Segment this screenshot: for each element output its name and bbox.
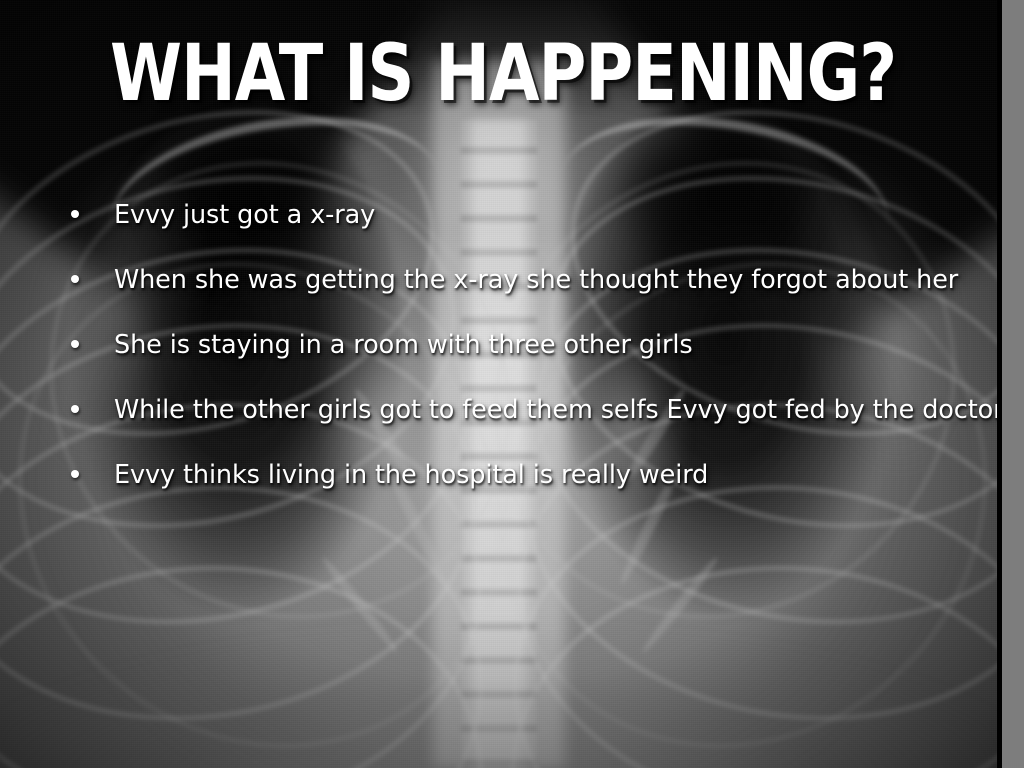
list-item: Evvy thinks living in the hospital is re… xyxy=(62,457,992,522)
list-item-text: While the other girls got to feed them s… xyxy=(114,392,1004,428)
slide-right-letterbox xyxy=(1002,0,1024,768)
list-item: Evvy just got a x-ray xyxy=(62,197,992,262)
bullet-point-icon xyxy=(71,340,79,348)
list-item-text: Evvy thinks living in the hospital is re… xyxy=(114,457,708,493)
list-item: When she was getting the x-ray she thoug… xyxy=(62,262,992,327)
presentation-slide: WHAT IS HAPPENING? Evvy just got a x-ray… xyxy=(0,0,1024,768)
slide-content: WHAT IS HAPPENING? Evvy just got a x-ray… xyxy=(0,0,1024,768)
bullet-list: Evvy just got a x-ray When she was getti… xyxy=(62,197,992,522)
bullet-point-icon xyxy=(71,470,79,478)
list-item-text: When she was getting the x-ray she thoug… xyxy=(114,262,958,298)
bullet-point-icon xyxy=(71,275,79,283)
list-item: She is staying in a room with three othe… xyxy=(62,327,992,392)
slide-right-divider-line xyxy=(997,0,1002,768)
page-title: WHAT IS HAPPENING? xyxy=(110,34,882,114)
list-item-text: Evvy just got a x-ray xyxy=(114,197,375,233)
list-item-text: She is staying in a room with three othe… xyxy=(114,327,693,363)
list-item: While the other girls got to feed them s… xyxy=(62,392,992,457)
bullet-point-icon xyxy=(71,210,79,218)
bullet-point-icon xyxy=(71,405,79,413)
